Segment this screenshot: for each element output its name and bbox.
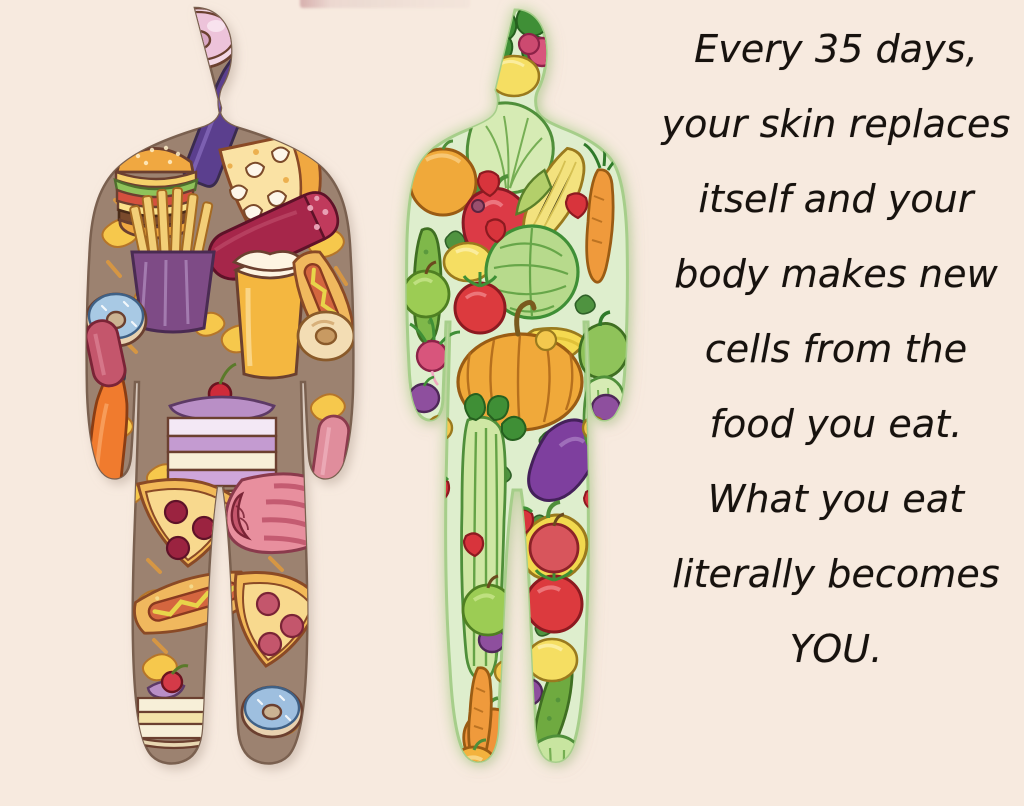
quote-line-3: itself and your [698,180,973,218]
fresh-produce-body-figure [382,0,652,806]
quote-line-9: YOU. [790,630,883,668]
quote-line-5: cells from the [705,330,967,368]
head-produce-cluster [475,5,572,96]
quote-line-8: literally becomes [672,555,1000,593]
quote-line-4: body makes new [674,255,998,293]
quote-text-block: Every 35 days, your skin replaces itself… [648,26,1024,780]
quote-line-1: Every 35 days, [694,30,978,68]
blue-donut-thigh [242,687,302,737]
bacon-ham-strips [226,474,340,553]
pink-donut-head [157,8,239,68]
cream-donut-arm [298,312,354,360]
junk-food-body-figure [20,0,380,806]
poster-root: Every 35 days, your skin replaces itself… [0,0,1024,806]
lemon-leg [527,639,577,681]
plum-head [475,41,501,72]
quote-line-6: food you eat. [710,405,963,443]
lemon-head [489,56,539,96]
quote-line-2: your skin replaces [662,105,1011,143]
quote-line-7: What you eat [708,480,965,518]
